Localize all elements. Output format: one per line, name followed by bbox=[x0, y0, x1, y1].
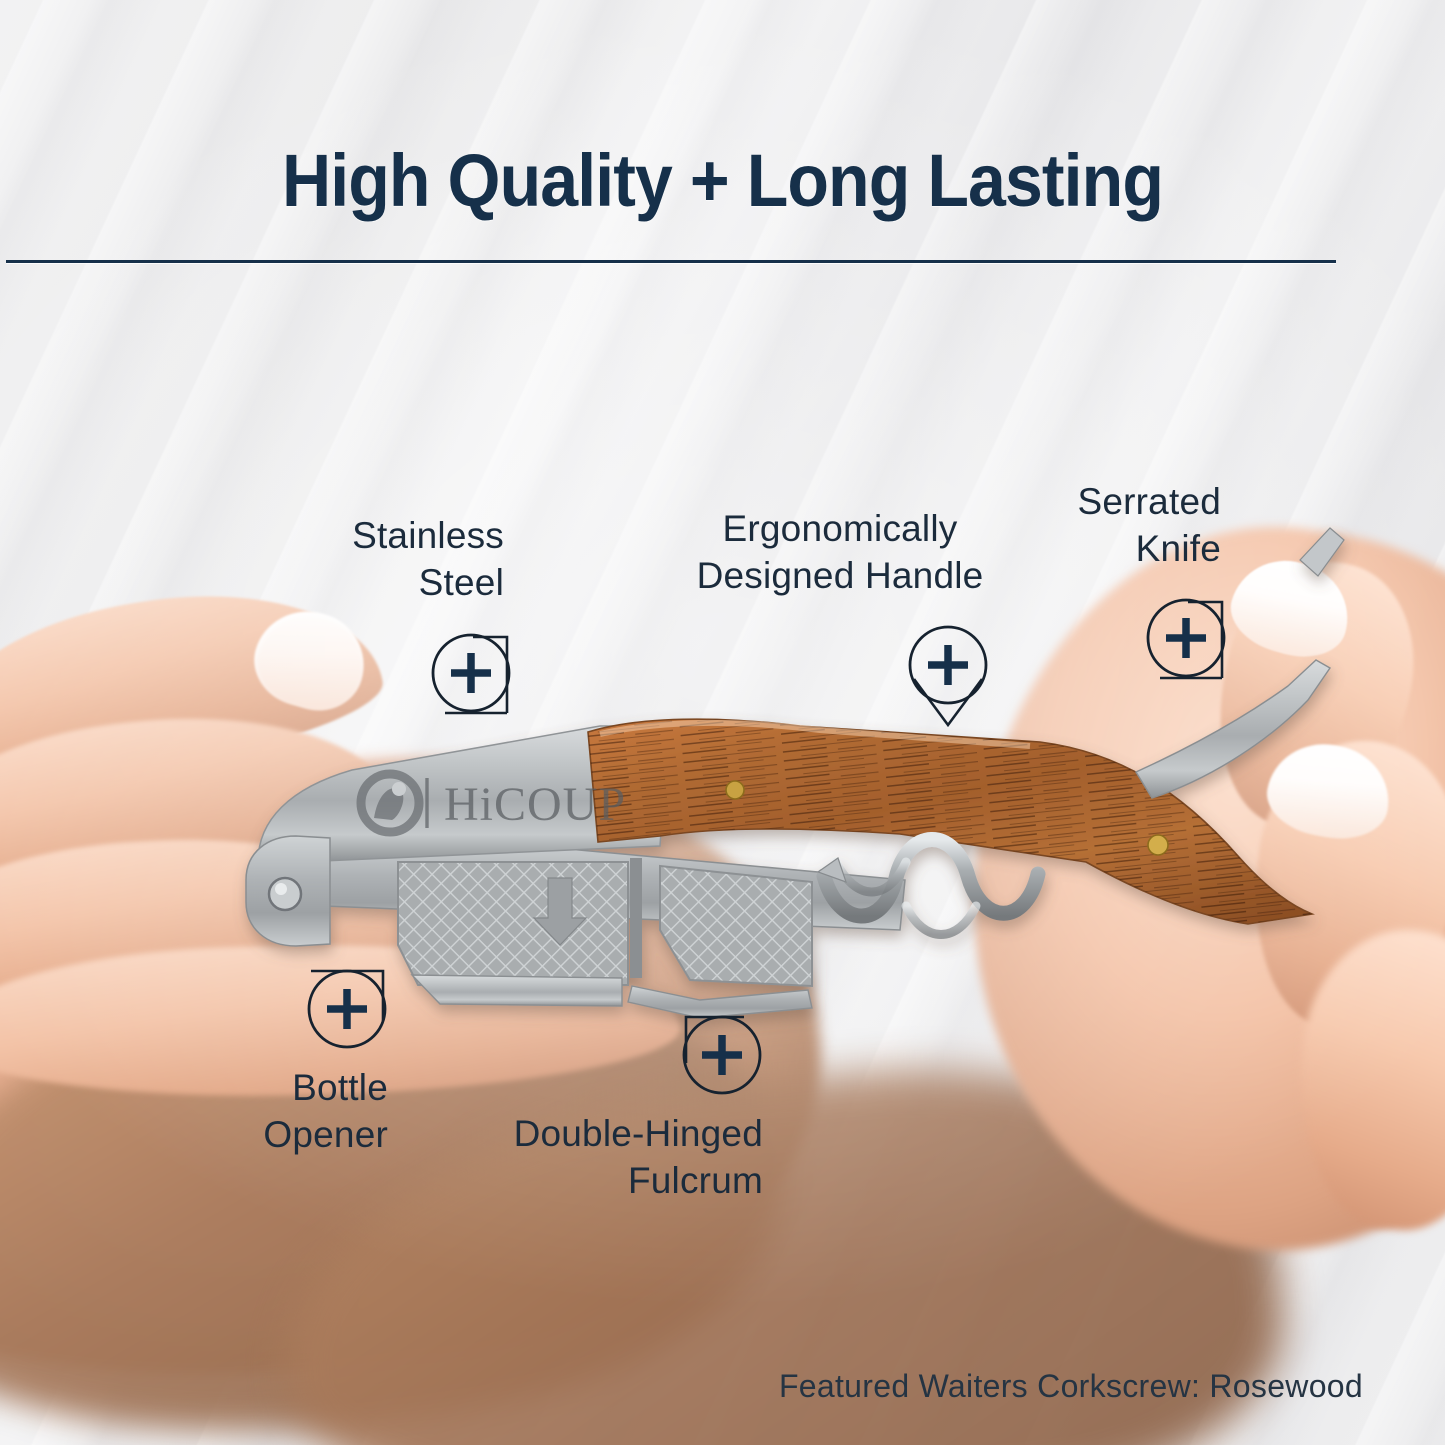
annotation-label-bottle-opener: Bottle Opener bbox=[263, 1064, 388, 1159]
plus-icon bbox=[451, 653, 491, 693]
corkscrew-helix bbox=[824, 839, 1038, 934]
brass-rivet-1 bbox=[726, 781, 744, 799]
annotation-label-ergonomic-handle: Ergonomically Designed Handle bbox=[640, 505, 1040, 600]
pivot-rivet bbox=[269, 878, 301, 910]
marker-double-hinged-fulcrum[interactable] bbox=[674, 1007, 770, 1103]
annotation-label-stainless-steel: Stainless Steel bbox=[352, 512, 504, 607]
plus-icon bbox=[702, 1035, 742, 1075]
marker-serrated-knife[interactable] bbox=[1140, 592, 1236, 688]
infographic-canvas: HiCOUP High Quality + Long Lasting Stain… bbox=[0, 0, 1445, 1445]
plus-icon bbox=[928, 645, 968, 685]
annotation-label-double-hinged-fulcrum: Double-Hinged Fulcrum bbox=[514, 1110, 763, 1205]
brand-name: HiCOUP bbox=[444, 778, 626, 831]
page-title: High Quality + Long Lasting bbox=[58, 138, 1387, 223]
plus-icon bbox=[327, 989, 367, 1029]
title-divider bbox=[6, 260, 1336, 263]
knurled-pad-2 bbox=[660, 866, 812, 986]
hinge-gap bbox=[630, 858, 642, 978]
plus-icon bbox=[1166, 618, 1206, 658]
featured-product-caption: Featured Waiters Corkscrew: Rosewood bbox=[779, 1368, 1363, 1405]
bottle-opener-notch bbox=[412, 975, 622, 1006]
knurled-pad-1 bbox=[398, 862, 628, 985]
brass-rivet-2 bbox=[1148, 835, 1168, 855]
knife-tip bbox=[1300, 528, 1344, 576]
marker-bottle-opener[interactable] bbox=[299, 961, 395, 1057]
annotation-label-serrated-knife: Serrated Knife bbox=[1077, 478, 1221, 573]
marker-stainless-steel[interactable] bbox=[425, 627, 521, 723]
hicoup-logo-dot bbox=[392, 782, 406, 796]
marker-ergonomic-handle[interactable] bbox=[902, 621, 998, 731]
pivot-rivet-highlight bbox=[275, 883, 287, 895]
